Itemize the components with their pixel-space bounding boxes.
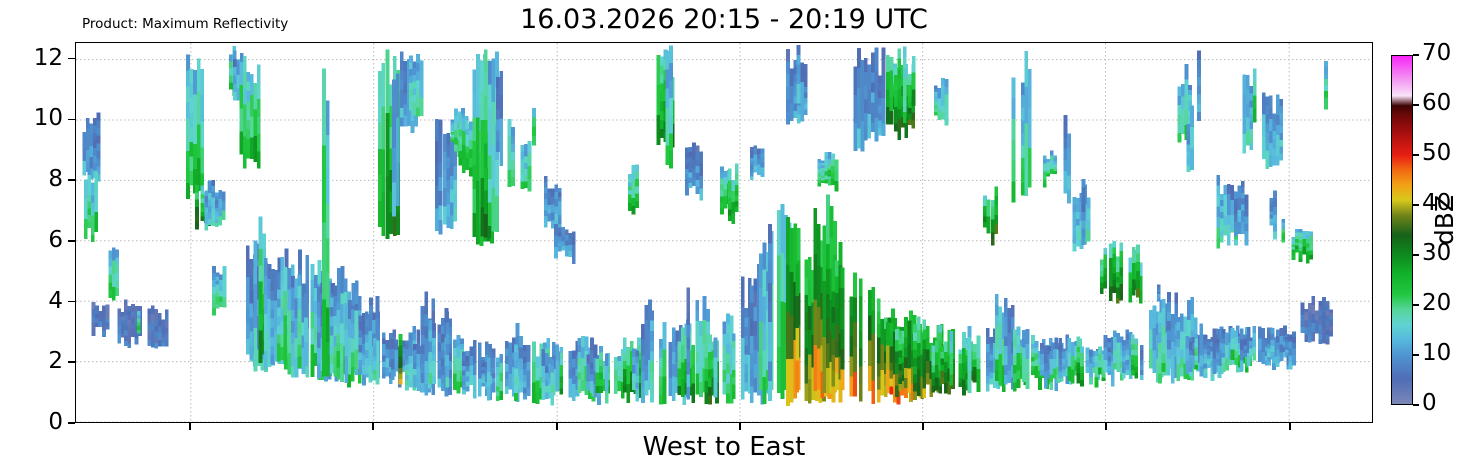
x-tick-mark	[739, 423, 741, 430]
colorbar-tick-mark	[1413, 254, 1419, 256]
colorbar-tick-mark	[1413, 154, 1419, 156]
colorbar-tick-label: 0	[1422, 392, 1437, 415]
y-tick-label: 10	[3, 107, 63, 130]
y-tick-mark	[68, 179, 75, 181]
y-tick-mark	[68, 58, 75, 60]
x-tick-mark	[556, 423, 558, 430]
y-tick-mark	[68, 301, 75, 303]
x-axis-label: West to East	[75, 432, 1373, 462]
colorbar-tick-label: 40	[1422, 192, 1451, 215]
radar-cross-section-figure: 16.03.2026 20:15 - 20:19 UTC Product: Ma…	[0, 0, 1482, 470]
plot-area	[75, 42, 1373, 423]
x-tick-mark	[1105, 423, 1107, 430]
x-tick-mark	[922, 423, 924, 430]
colorbar-tick-label: 10	[1422, 342, 1451, 365]
colorbar-tick-mark	[1413, 304, 1419, 306]
colorbar-tick-mark	[1413, 104, 1419, 106]
y-tick-mark	[68, 240, 75, 242]
colorbar-tick-label: 50	[1422, 142, 1451, 165]
colorbar-tick-mark	[1413, 404, 1419, 406]
y-tick-label: 4	[3, 290, 63, 313]
colorbar-tick-mark	[1413, 54, 1419, 56]
x-tick-mark	[189, 423, 191, 430]
colorbar-gradient	[1391, 55, 1413, 405]
product-annotation: Product: Maximum Reflectivity	[82, 16, 288, 32]
y-tick-mark	[68, 119, 75, 121]
colorbar-tick-label: 70	[1422, 42, 1451, 65]
y-tick-label: 2	[3, 350, 63, 373]
colorbar-tick-label: 30	[1422, 242, 1451, 265]
x-tick-mark	[1289, 423, 1291, 430]
y-tick-mark	[68, 422, 75, 424]
colorbar-tick-mark	[1413, 204, 1419, 206]
colorbar-tick-label: 60	[1422, 92, 1451, 115]
colorbar-tick-mark	[1413, 354, 1419, 356]
reflectivity-data-layer	[76, 43, 1372, 422]
colorbar-tick-label: 20	[1422, 292, 1451, 315]
colorbar	[1391, 55, 1413, 405]
y-tick-label: 8	[3, 168, 63, 191]
x-tick-mark	[372, 423, 374, 430]
y-tick-label: 6	[3, 229, 63, 252]
y-tick-label: 12	[3, 47, 63, 70]
y-tick-label: 0	[3, 411, 63, 434]
y-tick-mark	[68, 361, 75, 363]
